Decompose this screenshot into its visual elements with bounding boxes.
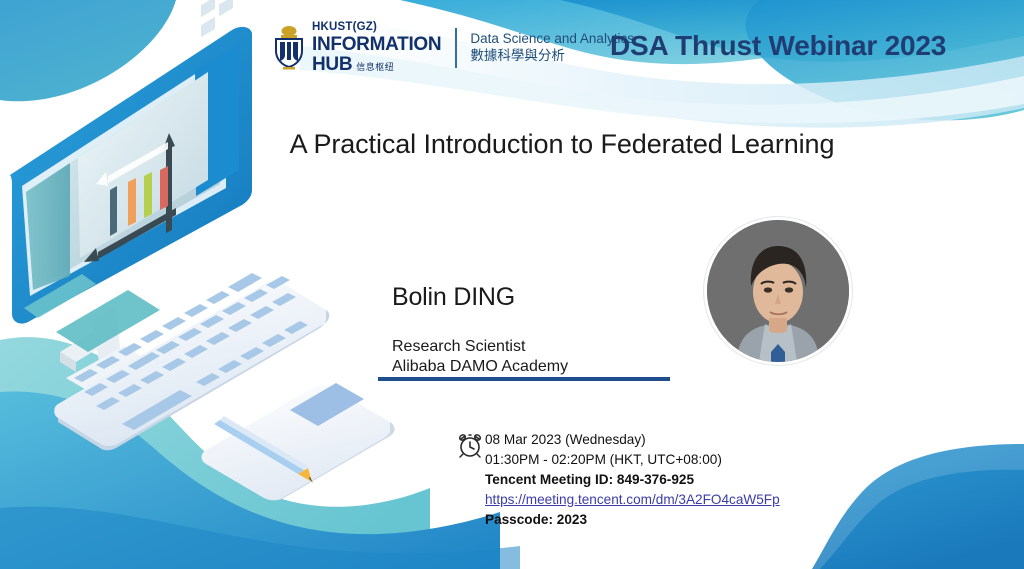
chart-axis-x-arrow [84,248,99,262]
pencil-body [214,420,304,474]
logo-line-hub: HUB [312,55,352,74]
notebook-page [202,386,395,501]
chart-top-arrow-head [96,172,108,186]
desk-teal-pad [56,290,160,352]
hkust-gz-emblem-icon [272,25,306,71]
chart-bar-2 [128,178,136,226]
speaker-name: Bolin DING [392,283,515,312]
monitor-frame-inner [22,54,226,296]
speaker-affiliation-block: Research Scientist Alibaba DAMO Academy [392,337,568,378]
meeting-passcode: Passcode: 2023 [485,510,780,530]
monitor-left-pane [26,163,70,290]
notebook-inner-box [290,383,364,426]
meeting-time: 01:30PM - 02:20PM (HKT, UTC+08:00) [485,450,780,470]
wave-bottom-left-blue [0,392,500,569]
meeting-link[interactable]: https://meeting.tencent.com/dm/3A2FO4caW… [485,490,780,510]
header-logo-block: HKUST(GZ) INFORMATION HUB 信息枢纽 Data Scie… [272,22,634,74]
chart-bar-4 [160,166,168,210]
keyboard-edge [58,310,329,450]
monitor-screen [26,64,220,290]
webinar-poster: HKUST(GZ) INFORMATION HUB 信息枢纽 Data Scie… [0,0,1024,569]
monitor-stand-neck [92,306,122,380]
keyboard [54,273,329,450]
wave-bottom-right [820,470,1024,569]
logo-divider [455,28,457,68]
notebook [202,383,395,500]
monitor-chart-pane [78,72,208,258]
alarm-clock-icon [456,431,484,459]
monitor-stand-base [66,346,158,398]
logo-line-hub-chinese: 信息枢纽 [356,63,394,72]
meeting-details: 08 Mar 2023 (Wednesday) 01:30PM - 02:20P… [485,430,780,530]
pencil-tip [298,468,312,482]
wave-bottom-left-strip [0,507,520,569]
meeting-date: 08 Mar 2023 (Wednesday) [485,430,780,450]
meeting-id: Tencent Meeting ID: 849-376-925 [485,470,780,490]
monitor-side-panel [195,44,239,196]
keyboard-body [54,281,329,446]
speaker-portrait [707,220,849,362]
keyboard-keys [74,273,308,430]
logo-line-hkust: HKUST(GZ) [312,22,441,34]
pencil-point [309,477,313,483]
chart-bar-1 [110,186,117,236]
chart-bar-3 [144,172,152,218]
pencil [214,416,313,483]
speaker-underline-rule [378,377,670,381]
monitor [10,0,252,398]
blob-top-left [0,0,176,101]
notebook-edge [206,422,395,500]
webinar-series-title: DSA Thrust Webinar 2023 [610,30,946,62]
speaker-affiliation: Alibaba DAMO Academy [392,357,568,377]
monitor-frame [10,27,252,324]
talk-title: A Practical Introduction to Federated Le… [0,129,1024,160]
speaker-role: Research Scientist [392,337,568,357]
wave-bottom-right-2 [812,444,1024,569]
wave-bottom-left-teal [0,337,430,569]
desk-teal-pad-2 [24,274,96,318]
logo-line-information: INFORMATION [312,35,441,54]
chart-axis-x [98,208,176,259]
pencil-body-2 [220,416,308,470]
mouse [60,330,112,372]
monitor-side-buttons [201,0,233,37]
